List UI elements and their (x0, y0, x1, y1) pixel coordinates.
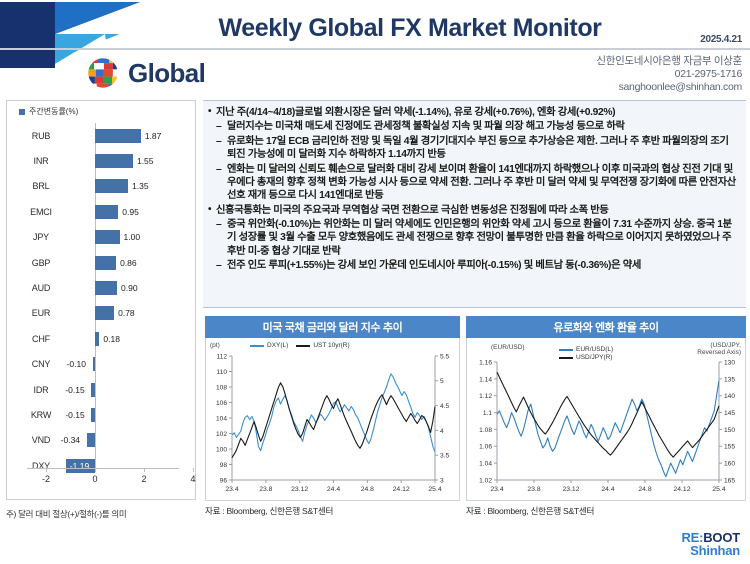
bar-category-label: KRW (15, 410, 67, 420)
left-axis-tick-label: 100 (216, 446, 227, 453)
left-axis-tick-label: 1.14 (479, 376, 492, 383)
right-axis-tick-label: 160 (724, 461, 735, 468)
bar-row: GBP0.86 (7, 250, 197, 275)
right-axis-tick-label: 130 (724, 359, 735, 366)
bar-category-label: IDR (15, 385, 67, 395)
left-axis-tick-label: 96 (220, 477, 228, 484)
x-axis-tick-label: 24.8 (638, 486, 651, 493)
chart-legend-item: DXY(L) (250, 342, 288, 349)
bar-value-label: 1.55 (137, 156, 154, 166)
x-axis-tick-label: 23.8 (259, 486, 272, 493)
bar-row: IDR-0.15 (7, 377, 197, 402)
chart-legend-item: EUR/USD(L) (559, 346, 613, 353)
bar-value-label: 1.35 (132, 181, 149, 191)
page-title: Weekly Global FX Market Monitor (195, 14, 625, 43)
bar-fill (95, 129, 141, 143)
bar-fill (95, 154, 133, 168)
legend-label: EUR/USD(L) (576, 346, 613, 353)
chart-legend: EUR/USD(L)USD/JPY(R) (559, 346, 613, 361)
bar-axis-tick-label: 4 (190, 474, 195, 484)
reboot-shinhan-logo: RE:BOOT Shinhan (681, 531, 740, 558)
bar-category-label: BRL (15, 181, 67, 191)
bar-category-label: EUR (15, 308, 67, 318)
bar-axis-rule (27, 468, 179, 469)
left-axis-tick-label: 1.06 (479, 444, 492, 451)
x-axis-tick-label: 23.8 (527, 486, 540, 493)
ust-dxy-chart-panel: 미국 국채 금리와 달러 지수 추이 969810010210410610811… (205, 316, 460, 517)
bar-axis-tick-label: 2 (141, 474, 146, 484)
bar-value-label: 1.87 (145, 131, 162, 141)
commentary-subitem: 전주 인도 루피(+1.55%)는 강세 보인 가운데 인도네시아 루피아(-0… (207, 259, 740, 272)
left-axis-tick-label: 106 (216, 400, 227, 407)
section-header-global: Global (85, 55, 205, 91)
legend-swatch-icon (19, 109, 25, 115)
chart-legend-item: UST 10yr(R) (296, 342, 349, 349)
bar-row: EMCI0.95 (7, 199, 197, 224)
left-axis-tick-label: 1.04 (479, 461, 492, 468)
bar-value-label: 0.95 (122, 207, 139, 217)
legend-line-icon (559, 357, 573, 359)
ust-dxy-chart-title: 미국 국채 금리와 달러 지수 추이 (205, 316, 460, 338)
x-axis-tick-label: 24.4 (601, 486, 614, 493)
legend-label: UST 10yr(R) (313, 342, 349, 349)
bar-value-label: -0.15 (65, 385, 84, 395)
bar-row: CHF0.18 (7, 326, 197, 351)
contact-phone: 021-2975-1716 (596, 68, 742, 81)
section-title: Global (128, 58, 205, 89)
bar-fill (95, 205, 118, 219)
eur-jpy-chart-source: 자료 : Bloomberg, 신한은행 S&T센터 (466, 505, 746, 517)
left-axis-tick-label: 1.08 (479, 427, 492, 434)
contact-block: 신한인도네시아은행 자금부 이상훈 021-2975-1716 sanghoon… (596, 55, 742, 93)
bar-row: AUD0.90 (7, 275, 197, 300)
series-line (497, 381, 719, 477)
bar-fill (91, 383, 95, 397)
right-axis-tick-label: 155 (724, 444, 735, 451)
page-header: Weekly Global FX Market Monitor 2025.4.2… (0, 0, 750, 96)
contact-org: 신한인도네시아은행 자금부 이상훈 (596, 55, 742, 68)
series-line (497, 372, 719, 457)
right-axis-tick-label: 145 (724, 410, 735, 417)
reboot-wordmark: RE:BOOT (681, 531, 740, 545)
left-axis-tick-label: 1.1 (483, 410, 492, 417)
legend-label: DXY(L) (267, 342, 288, 349)
right-axis-tick-label: 4.5 (440, 403, 449, 410)
bar-category-label: RUB (15, 131, 67, 141)
series-line (232, 374, 435, 452)
commentary-bullet: 지난 주(4/14~4/18)글로벌 외환시장은 달러 약세(-1.14%), … (207, 106, 740, 119)
right-axis-tick-label: 3 (440, 477, 444, 484)
bar-category-label: CHF (15, 334, 67, 344)
eur-jpy-chart-body: 1.161.141.121.11.081.061.041.02130135140… (466, 338, 746, 501)
eur-jpy-chart-panel: 유로화와 엔화 환율 추이 1.161.141.121.11.081.061.0… (466, 316, 746, 517)
left-axis-tick-label: 112 (216, 353, 227, 360)
x-axis-tick-label: 23.12 (562, 486, 579, 493)
right-axis-tick-label: 150 (724, 427, 735, 434)
commentary-bullet: 신흥국통화는 미국의 주요국과 무역협상 국면 전환으로 극심한 변동성은 진정… (207, 204, 740, 217)
bar-chart-note: 주) 달러 대비 절상(+)/절하(-)를 의미 (6, 508, 206, 520)
right-axis-tick-label: 140 (724, 393, 735, 400)
bar-value-label: 0.86 (120, 258, 137, 268)
chart-legend-item: USD/JPY(R) (559, 354, 613, 361)
shinhan-wordmark: Shinhan (681, 544, 740, 558)
x-axis-tick-label: 25.4 (712, 486, 725, 493)
bar-value-label: 0.18 (103, 334, 120, 344)
bar-fill (95, 230, 120, 244)
series-line (232, 383, 435, 458)
bar-category-label: VND (15, 435, 67, 445)
bar-axis-tick (46, 468, 47, 472)
commentary-subitem: 유로화는 17일 ECB 금리인하 전망 및 독일 4월 경기기대지수 부진 등… (207, 135, 740, 162)
bar-fill (91, 408, 95, 422)
x-axis-tick-label: 25.4 (428, 486, 441, 493)
page-root: Weekly Global FX Market Monitor 2025.4.2… (0, 0, 750, 564)
contact-email: sanghoonlee@shinhan.com (596, 81, 742, 94)
globe-flags-icon (85, 55, 121, 91)
chart-legend: DXY(L)UST 10yr(R) (250, 342, 350, 349)
bar-value-label: 1.00 (124, 232, 141, 242)
bar-category-label: AUD (15, 283, 67, 293)
bar-category-label: INR (15, 156, 67, 166)
bar-row: JPY1.00 (7, 225, 197, 250)
bar-row: CNY-0.10 (7, 352, 197, 377)
bar-chart-legend: 주간변동률(%) (19, 106, 78, 117)
legend-line-icon (296, 345, 310, 347)
legend-label: USD/JPY(R) (576, 354, 612, 361)
x-axis-tick-label: 24.12 (393, 486, 410, 493)
bar-fill (95, 332, 99, 346)
bar-row: BRL1.35 (7, 174, 197, 199)
bar-fill (95, 256, 116, 270)
right-axis-tick-label: 135 (724, 376, 735, 383)
x-axis-tick-label: 24.12 (673, 486, 690, 493)
left-axis-tick-label: 110 (216, 369, 227, 376)
legend-line-icon (250, 345, 264, 347)
bar-category-label: GBP (15, 258, 67, 268)
bar-row: KRW-0.15 (7, 402, 197, 427)
right-axis-tick-label: 3.5 (440, 453, 449, 460)
ust-dxy-chart-body: 969810010210410610811011233.544.555.523.… (205, 338, 460, 501)
right-axis-tick-label: 5.5 (440, 353, 449, 360)
right-axis-unit-label: (USD/JPY,Reversed Axis) (697, 342, 741, 356)
bar-value-label: -0.10 (67, 359, 86, 369)
commentary-subitem: 중국 위안화(-0.10%)는 위안화는 미 달러 약세에도 인민은행의 위안화… (207, 218, 740, 258)
bar-row: RUB1.87 (7, 123, 197, 148)
left-axis-unit-label: (EUR/USD) (491, 344, 525, 351)
right-axis-tick-label: 5 (440, 378, 444, 385)
left-axis-tick-label: 1.02 (479, 477, 492, 484)
bar-category-label: JPY (15, 232, 67, 242)
bar-axis-tick-label: 0 (92, 474, 97, 484)
bar-value-label: 0.78 (118, 308, 135, 318)
bar-axis-tick (193, 468, 194, 472)
cl-body-svg: 969810010210410610811011233.544.555.523.… (206, 338, 459, 500)
x-axis-tick-label: 23.4 (225, 486, 238, 493)
bar-axis-tick-label: -2 (42, 474, 50, 484)
left-axis-tick-label: 1.12 (479, 393, 492, 400)
bar-row: INR1.55 (7, 148, 197, 173)
x-axis-tick-label: 23.4 (490, 486, 503, 493)
bar-fill (95, 281, 117, 295)
report-date: 2025.4.21 (700, 34, 742, 45)
left-axis-tick-label: 108 (216, 384, 227, 391)
header-divider (0, 48, 750, 50)
bar-x-axis: -2024 (7, 468, 197, 494)
eur-jpy-chart-title: 유로화와 엔화 환율 추이 (466, 316, 746, 338)
right-axis-tick-label: 165 (724, 477, 735, 484)
bar-fill (87, 433, 95, 447)
bar-axis-tick (144, 468, 145, 472)
bar-category-label: CNY (15, 359, 67, 369)
market-commentary: 지난 주(4/14~4/18)글로벌 외환시장은 달러 약세(-1.14%), … (203, 100, 746, 308)
left-axis-tick-label: 102 (216, 431, 227, 438)
weekly-change-bar-chart: 주간변동률(%) RUB1.87INR1.55BRL1.35EMCI0.95JP… (6, 100, 196, 500)
bar-value-label: -0.34 (61, 435, 80, 445)
bar-row: VND-0.34 (7, 428, 197, 453)
bar-chart-legend-label: 주간변동률(%) (29, 106, 78, 117)
bar-fill (95, 306, 114, 320)
left-axis-unit-label: (pt) (210, 342, 220, 349)
left-axis-tick-label: 104 (216, 415, 227, 422)
ust-dxy-chart-source: 자료 : Bloomberg, 신한은행 S&T센터 (205, 505, 460, 517)
bar-value-label: -0.15 (65, 410, 84, 420)
cr-body-svg: 1.161.141.121.11.081.061.041.02130135140… (467, 338, 745, 500)
bar-fill (95, 179, 128, 193)
x-axis-tick-label: 24.4 (327, 486, 340, 493)
x-axis-tick-label: 23.12 (291, 486, 308, 493)
bar-plot-area: RUB1.87INR1.55BRL1.35EMCI0.95JPY1.00GBP0… (7, 123, 197, 468)
legend-line-icon (559, 349, 573, 351)
bar-row: EUR0.78 (7, 301, 197, 326)
commentary-subitem: 달러지수는 미국채 매도세 진정에도 관세정책 불확실성 지속 및 파월 의장 … (207, 120, 740, 133)
left-axis-tick-label: 1.16 (479, 359, 492, 366)
commentary-subitem: 엔화는 미 달러의 신뢰도 훼손으로 달러화 대비 강세 보이며 환율이 141… (207, 163, 740, 203)
right-axis-tick-label: 4 (440, 428, 444, 435)
x-axis-tick-label: 24.8 (361, 486, 374, 493)
bar-fill (93, 357, 95, 371)
left-axis-tick-label: 98 (220, 462, 228, 469)
bar-category-label: EMCI (15, 207, 67, 217)
bar-axis-tick (95, 468, 96, 472)
bar-value-label: 0.90 (121, 283, 138, 293)
